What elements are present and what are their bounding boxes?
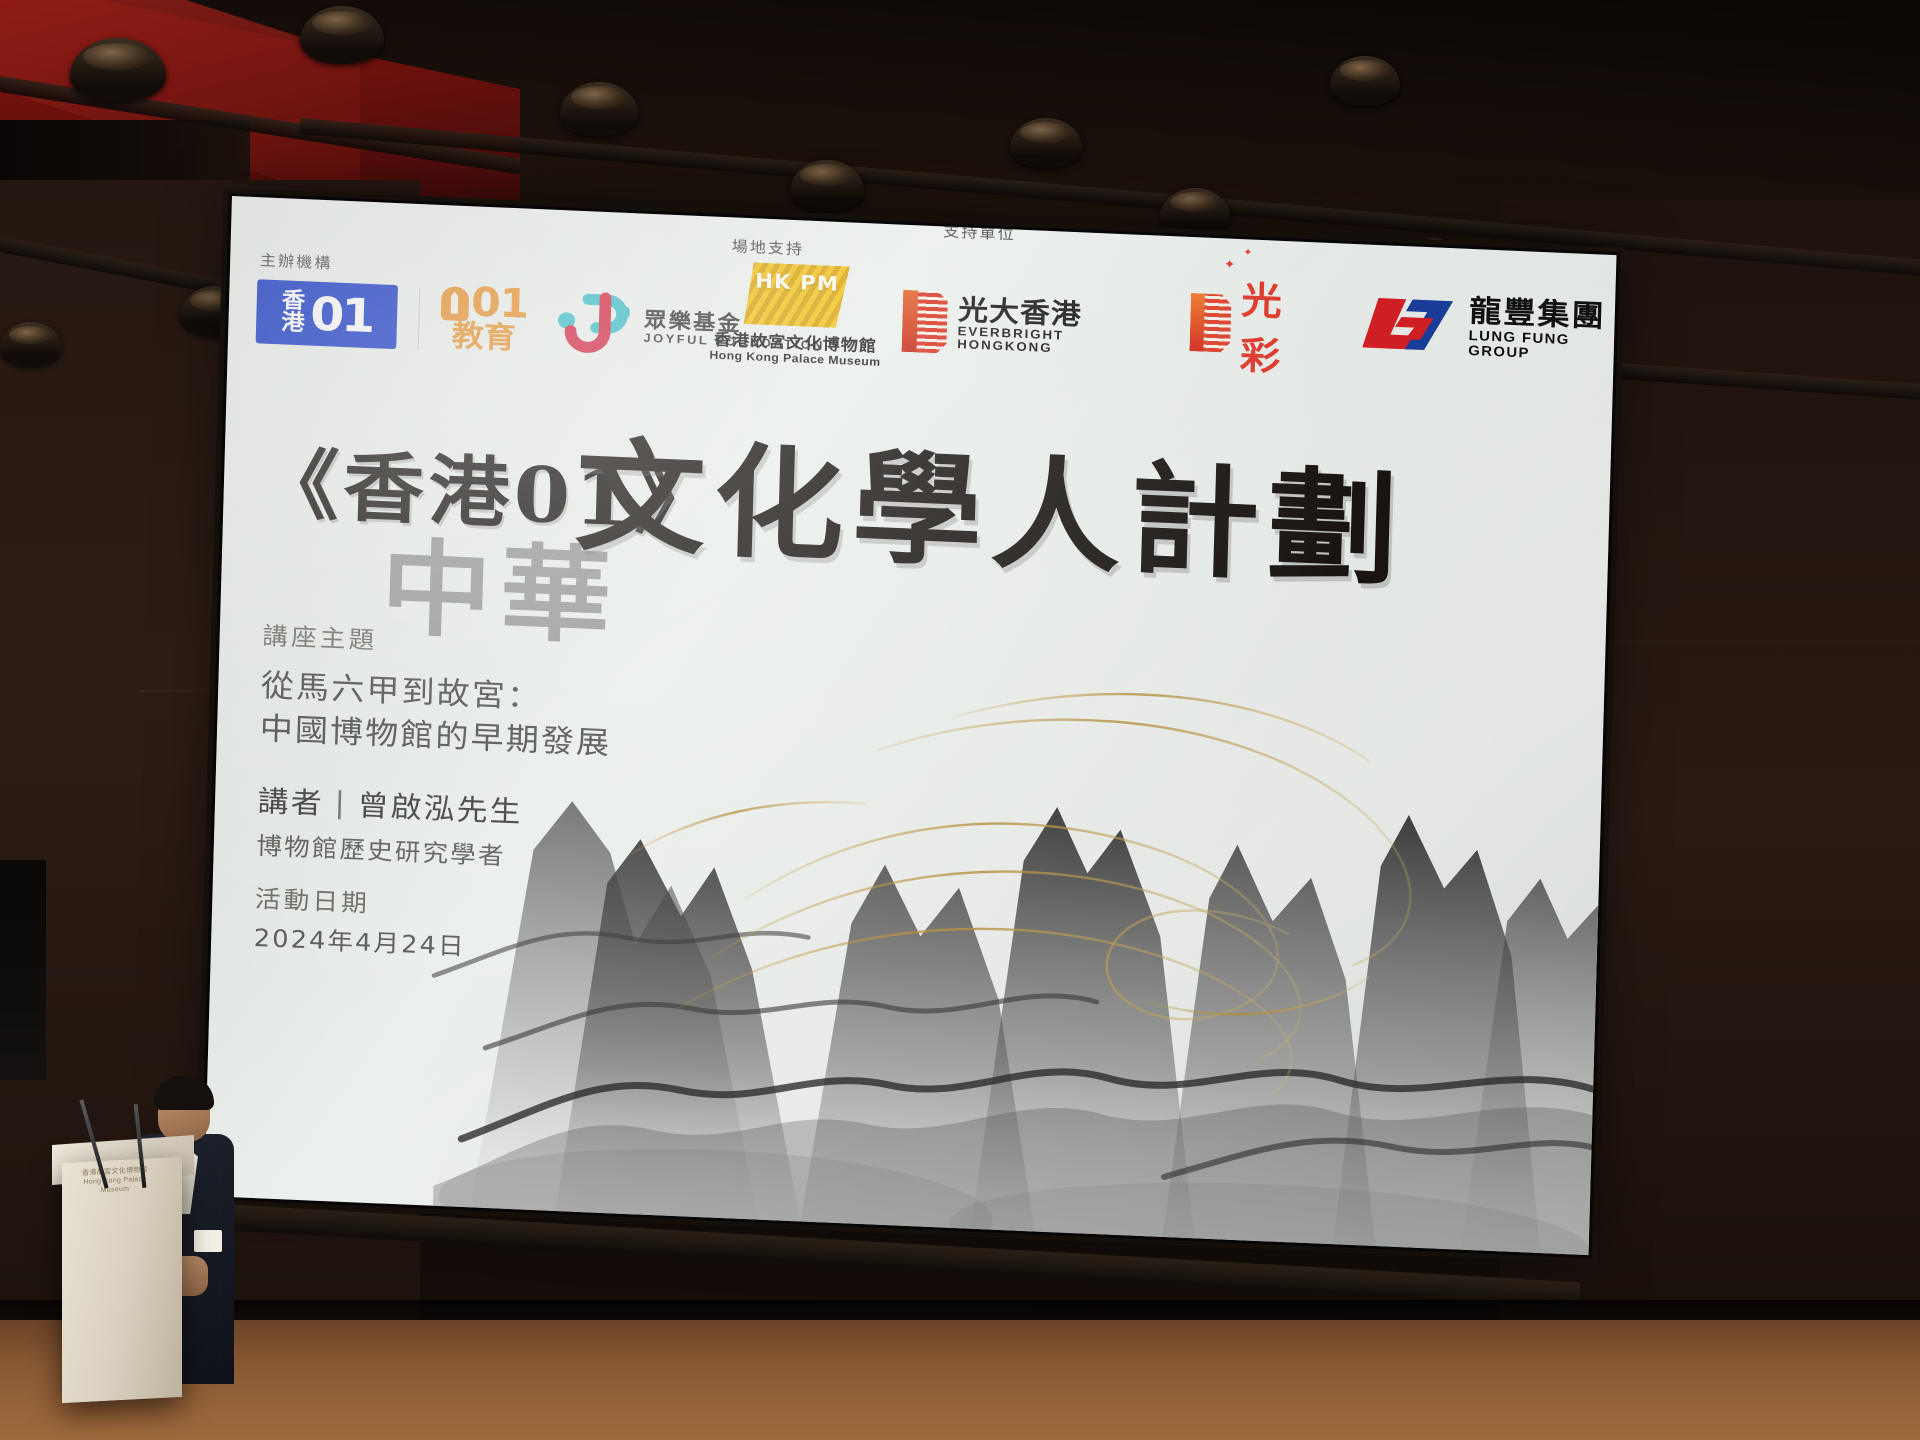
speaker-name: 曾啟泓先生	[357, 782, 523, 831]
venue-support-caption: 場地支持	[731, 235, 804, 259]
hk01-logo: 香 港 01	[256, 279, 398, 349]
presenter-hair	[154, 1076, 214, 1110]
supporting-units-logo-row: 光大香港 EVERBRIGHT HONGKONG ✦ ✦ 光彩	[901, 241, 1616, 395]
joyful-smile-icon	[555, 290, 636, 359]
lightbulb-pencil-icon	[441, 286, 470, 321]
guangcai-zh: 光彩	[1239, 269, 1318, 382]
hkpm-mark-text: HK PM	[745, 270, 850, 294]
lung-fung-group-logo: 龍豐集團 LUNG FUNG GROUP	[1358, 292, 1615, 364]
logo-divider	[417, 288, 420, 350]
projection-screen-wrapper: 主辦機構 場地支持 支持單位 香 港 01 01 教育	[204, 196, 1617, 1255]
everbright-mark-icon	[902, 290, 949, 354]
stage-side-panel	[0, 860, 46, 1080]
venue-support-logo-row: HK PM 香港故宮文化博物館 Hong Kong Palace Museum	[709, 261, 883, 369]
podium-plaque: 香港故宮文化博物館 Hong Kong Palace Museum	[82, 1167, 148, 1196]
guangcai-logo: ✦ ✦ 光彩	[1189, 267, 1318, 382]
speaker-label: 講者	[257, 778, 324, 823]
speaker-block: 講者 | 曾啟泓先生 博物館歷史研究學者 活動日期 2024年4月24日	[253, 778, 523, 964]
sparkle-icon: ✦	[1243, 247, 1252, 258]
hk01-logo-mark: 01	[310, 286, 373, 343]
lung-fung-mark-icon	[1358, 293, 1458, 355]
stage-floor	[0, 1320, 1920, 1440]
sparkle-icon: ✦	[1224, 256, 1236, 272]
education-logo-line2: 教育	[451, 322, 516, 355]
speaker-divider: |	[334, 785, 347, 820]
hkpm-mark-icon: HK PM	[744, 262, 850, 328]
spotlight	[0, 322, 62, 366]
everbright-hongkong-logo: 光大香港 EVERBRIGHT HONGKONG	[902, 290, 1149, 362]
podium: 香港故宮文化博物館 Hong Kong Palace Museum	[62, 1157, 182, 1403]
speaker-title: 博物館歷史研究學者	[256, 826, 522, 872]
hk01-education-logo: 01 教育	[440, 283, 529, 355]
hkpm-logo: HK PM 香港故宮文化博物館 Hong Kong Palace Museum	[709, 261, 883, 369]
guangcai-mark-icon	[1189, 293, 1231, 353]
lung-fung-en: LUNG FUNG GROUP	[1468, 328, 1614, 364]
date-label: 活動日期	[255, 879, 521, 925]
projection-screen: 主辦機構 場地支持 支持單位 香 港 01 01 教育	[204, 196, 1617, 1255]
podium-plaque-line2: Hong Kong Palace Museum	[82, 1175, 148, 1196]
hk01-logo-zh-line2: 港	[281, 312, 305, 335]
presenter-name-badge	[194, 1230, 222, 1252]
slide-title-line2-b: 文化學人計劃	[573, 397, 1409, 609]
topic-block: 講座主題 從馬六甲到故宮： 中國博物館的早期發展	[259, 616, 614, 766]
auditorium-scene: 主辦機構 場地支持 支持單位 香 港 01 01 教育	[0, 0, 1920, 1440]
organizer-caption: 主辦機構	[260, 249, 333, 273]
